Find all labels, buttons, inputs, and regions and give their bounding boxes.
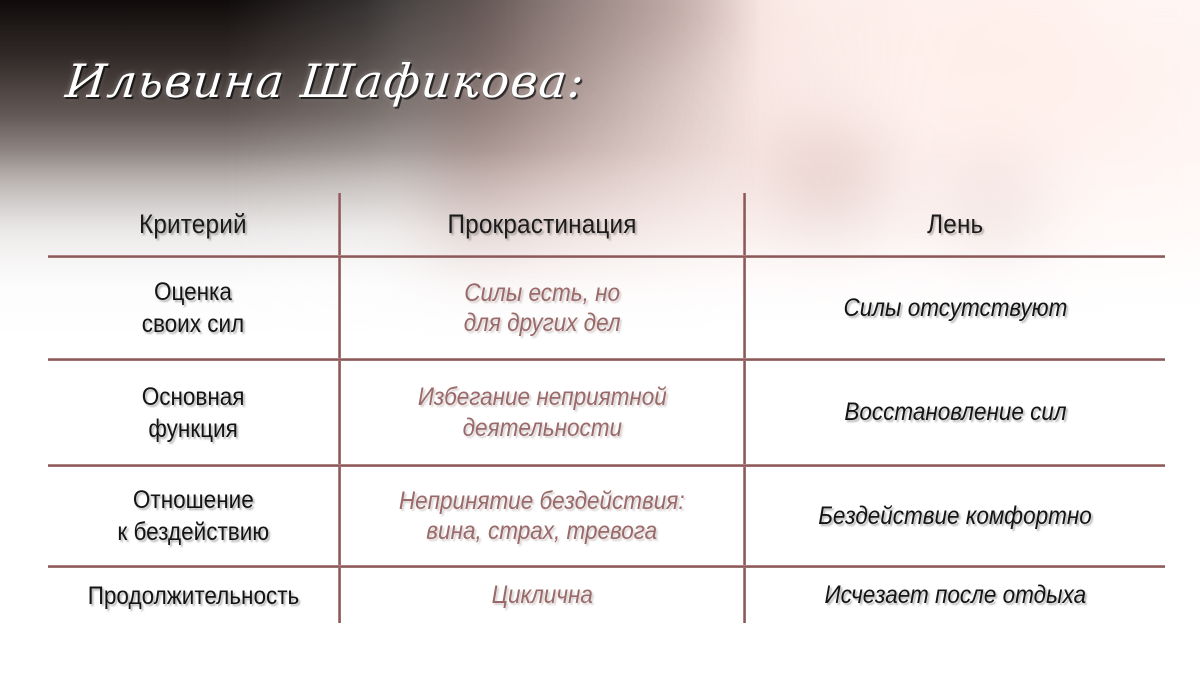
cell-procrastination-2: Избегание неприятнойдеятельности [418,382,667,443]
table-row: Отношениек бездействию [48,467,338,565]
table-row: Силы отсутствуют [746,258,1165,358]
table-row: Циклична [341,568,743,623]
slide: Ильвина Шафикова: Критерий Прокрастинаци… [0,0,1200,675]
table-row: Основнаяфункция [48,361,338,464]
table-header-laziness: Лень [746,193,1165,255]
cell-procrastination-1: Силы есть, нодля других дел [464,278,621,339]
table-row: Избегание неприятнойдеятельности [341,361,743,464]
cell-criterion-4: Продолжительность [87,580,299,612]
table-row: Продолжительность [48,568,338,623]
cell-laziness-3: Бездействие комфортно [819,501,1093,532]
table-row: Исчезает после отдыха [746,568,1165,623]
table-row: Восстановление сил [746,361,1165,464]
table-row: Оценкасвоих сил [48,258,338,358]
table-row: Бездействие комфортно [746,467,1165,565]
cell-criterion-1: Оценкасвоих сил [142,276,244,340]
cell-procrastination-4: Циклична [491,580,592,611]
comparison-table: Критерий Прокрастинация Лень Оценкасвоих… [48,193,1165,623]
cell-criterion-2: Основнаяфункция [142,381,245,445]
cell-laziness-1: Силы отсутствуют [844,293,1068,324]
table-header-procrastination-label: Прокрастинация [447,209,636,240]
table-header-laziness-label: Лень [927,209,983,240]
table-row: Непринятие бездействия:вина, страх, трев… [341,467,743,565]
cell-laziness-4: Исчезает после отдыха [825,580,1087,611]
cell-laziness-2: Восстановление сил [844,397,1066,428]
table-header-criterion-label: Критерий [139,209,247,240]
table-row: Силы есть, нодля других дел [341,258,743,358]
cell-criterion-3: Отношениек бездействию [117,484,269,548]
table-header-criterion: Критерий [48,193,338,255]
page-title: Ильвина Шафикова: [64,58,588,104]
cell-procrastination-3: Непринятие бездействия:вина, страх, трев… [399,486,685,547]
table-header-procrastination: Прокрастинация [341,193,743,255]
